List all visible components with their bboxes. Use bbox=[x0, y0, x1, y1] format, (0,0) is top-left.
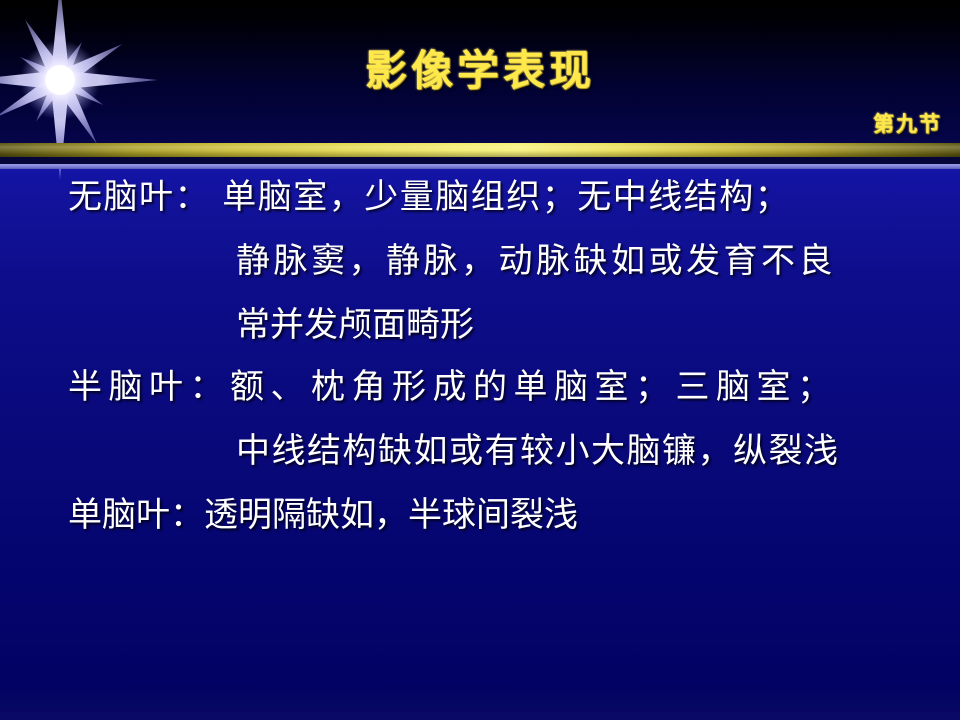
content-line: 静脉窦，静脉，动脉缺如或发育不良 bbox=[236, 244, 836, 278]
content-line: 常并发颅面畸形 bbox=[236, 308, 474, 342]
content-line: 半脑叶：额、枕角形成的单脑室；三脑室； bbox=[68, 370, 838, 404]
content-line: 无脑叶： 单脑室，少量脑组织；无中线结构； bbox=[68, 180, 790, 214]
divider-dark-strip bbox=[0, 157, 960, 164]
gold-divider-bar bbox=[0, 143, 960, 157]
presentation-slide: 影像学表现 第九节 无脑叶： 单脑室，少量脑组织；无中线结构； 静脉窦，静脉，动… bbox=[0, 0, 960, 720]
accent-rule bbox=[0, 164, 960, 169]
content-line: 中线结构缺如或有较小大脑镰，纵裂浅 bbox=[236, 434, 840, 468]
section-marker: 第九节 bbox=[873, 108, 942, 138]
content-line: 单脑叶：透明隔缺如，半球间裂浅 bbox=[68, 498, 578, 532]
slide-bottom-edge bbox=[0, 712, 960, 720]
gold-bar-sheen bbox=[0, 143, 960, 157]
slide-title: 影像学表现 bbox=[0, 50, 960, 92]
